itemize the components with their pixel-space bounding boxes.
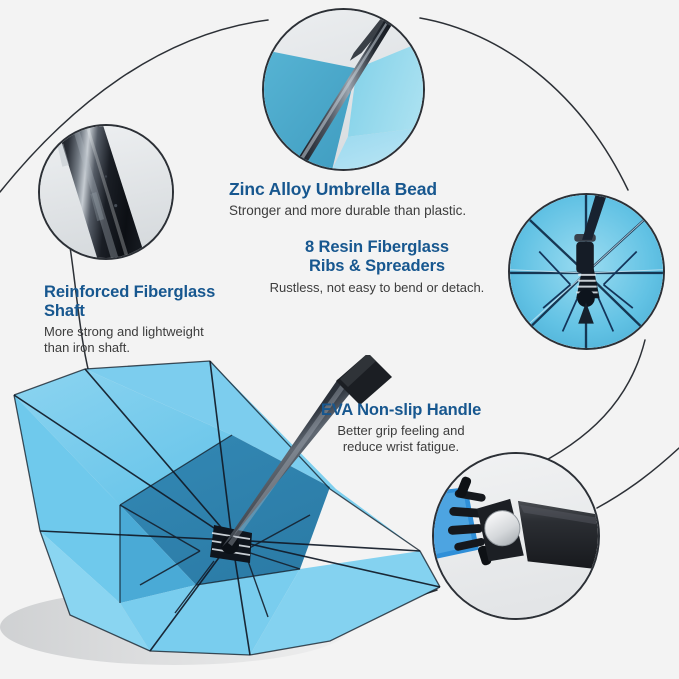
feature-subtitle-line2: reduce wrist fatigue. — [306, 439, 496, 455]
feature-heading-line1: 8 Resin Fiberglass — [258, 238, 496, 257]
feature-text-zinc-alloy-umbrella-bead: Zinc Alloy Umbrella Bead Stronger and mo… — [229, 178, 529, 220]
feature-text-resin-fiberglass-ribs: 8 Resin Fiberglass Ribs & Spreaders Rust… — [258, 238, 496, 296]
feature-subtitle: Rustless, not easy to bend or detach. — [258, 279, 496, 296]
feature-text-reinforced-fiberglass-shaft: Reinforced Fiberglass Shaft More strong … — [44, 283, 284, 356]
ribs-closeup-image — [510, 195, 663, 348]
feature-subtitle-line1: More strong and lightweight — [44, 324, 284, 340]
feature-subtitle: Stronger and more durable than plastic. — [229, 202, 529, 220]
feature-heading-line1: Reinforced Fiberglass — [44, 283, 284, 302]
feature-heading: EVA Non-slip Handle — [306, 400, 496, 421]
callout-ribs-closeup[interactable] — [508, 193, 665, 350]
callout-bead-closeup[interactable] — [262, 8, 425, 171]
feature-heading-line2: Ribs & Spreaders — [258, 257, 496, 276]
feature-subtitle-line2: than iron shaft. — [44, 340, 284, 356]
feature-subtitle-line1: Better grip feeling and — [306, 423, 496, 439]
feature-heading-line2: Shaft — [44, 302, 284, 321]
feature-text-eva-non-slip-handle: EVA Non-slip Handle Better grip feeling … — [306, 400, 496, 455]
bead-closeup-image — [264, 10, 423, 169]
shaft-closeup-image — [40, 126, 172, 258]
infographic-canvas: Zinc Alloy Umbrella Bead Stronger and mo… — [0, 0, 679, 679]
feature-heading: Zinc Alloy Umbrella Bead — [229, 178, 529, 200]
callout-shaft-closeup[interactable] — [38, 124, 174, 260]
